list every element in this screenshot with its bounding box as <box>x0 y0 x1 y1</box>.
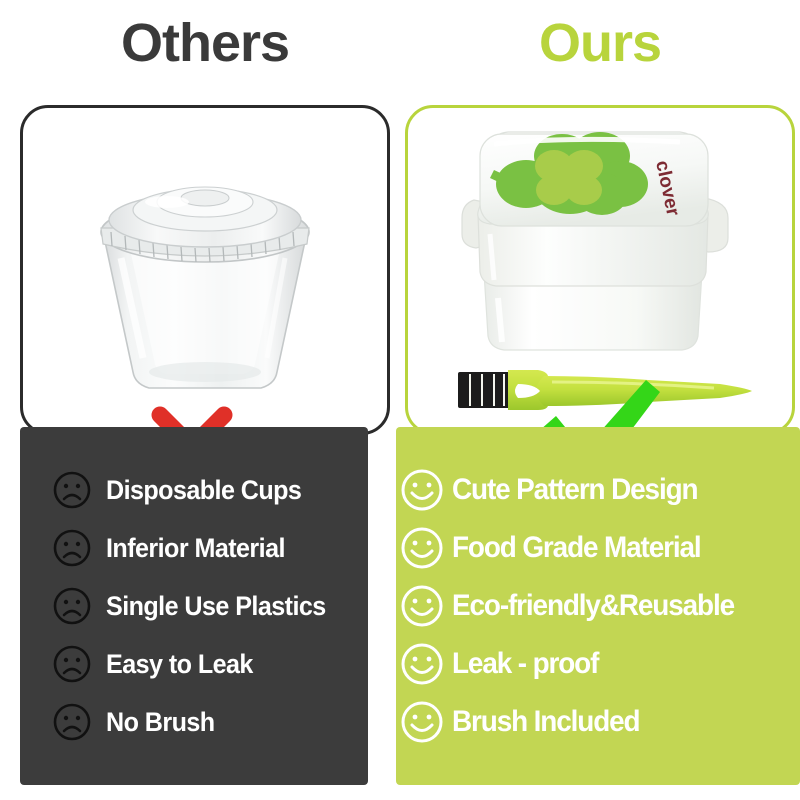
smiley-face-icon <box>400 468 444 512</box>
list-item-label: Leak - proof <box>452 647 598 681</box>
list-item: Leak - proof <box>396 635 800 693</box>
list-item: Disposable Cups <box>20 461 368 519</box>
list-item-label: Single Use Plastics <box>106 591 326 622</box>
ours-title: Ours <box>405 8 795 78</box>
comparison-infographic: Others Ours <box>0 0 800 800</box>
list-item-label: No Brush <box>106 707 215 738</box>
smiley-face-icon <box>400 584 444 628</box>
list-item: Food Grade Material <box>396 519 800 577</box>
list-item: Easy to Leak <box>20 635 368 693</box>
smiley-face-icon <box>400 642 444 686</box>
list-item-label: Brush Included <box>452 705 639 739</box>
ours-feature-panel: Cute Pattern Design Food Grade Material <box>396 427 800 785</box>
list-item-label: Cute Pattern Design <box>452 473 697 507</box>
list-item-label: Disposable Cups <box>106 475 301 506</box>
list-item: Inferior Material <box>20 519 368 577</box>
sad-face-icon <box>52 702 92 742</box>
list-item: No Brush <box>20 693 368 751</box>
list-item: Cute Pattern Design <box>396 461 800 519</box>
sad-face-icon <box>52 586 92 626</box>
list-item-label: Eco-friendly&Reusable <box>452 589 734 623</box>
others-product-card <box>20 105 390 435</box>
list-item-label: Food Grade Material <box>452 531 701 565</box>
smiley-face-icon <box>400 700 444 744</box>
sad-face-icon <box>52 644 92 684</box>
others-title: Others <box>20 8 390 78</box>
sad-face-icon <box>52 528 92 568</box>
list-item: Single Use Plastics <box>20 577 368 635</box>
smiley-face-icon <box>400 526 444 570</box>
clover-lunch-box-image: clover <box>450 122 740 372</box>
list-item-label: Easy to Leak <box>106 649 253 680</box>
disposable-cup-image <box>71 158 339 398</box>
others-feature-panel: Disposable Cups Inferior Material <box>20 427 368 785</box>
ours-feature-list: Cute Pattern Design Food Grade Material <box>396 427 800 785</box>
others-feature-list: Disposable Cups Inferior Material <box>20 427 368 785</box>
sad-face-icon <box>52 470 92 510</box>
list-item: Brush Included <box>396 693 800 751</box>
list-item: Eco-friendly&Reusable <box>396 577 800 635</box>
list-item-label: Inferior Material <box>106 533 285 564</box>
